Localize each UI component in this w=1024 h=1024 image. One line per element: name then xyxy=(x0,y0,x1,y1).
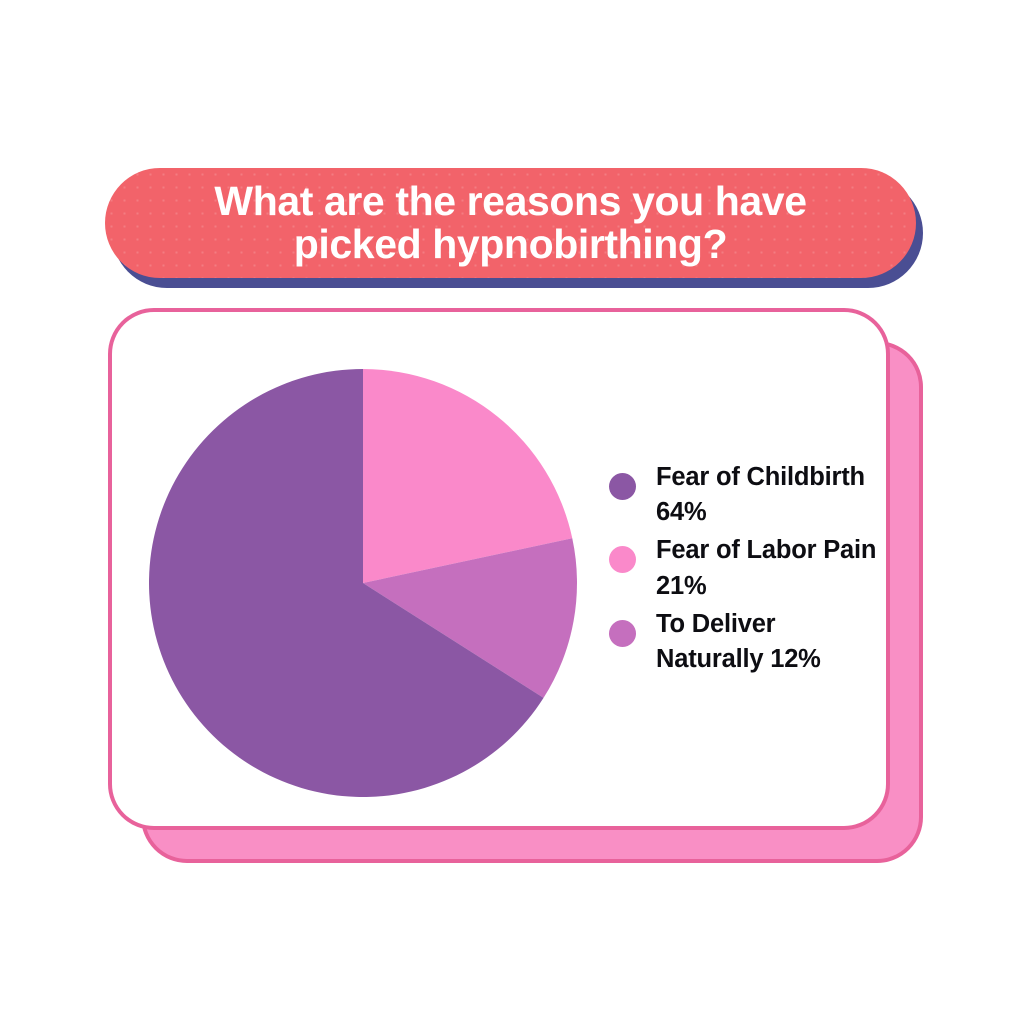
legend-label-fear-of-childbirth: Fear of Childbirth 64% xyxy=(656,460,879,530)
legend-item-to-deliver-naturally[interactable]: To Deliver Naturally 12% xyxy=(609,607,879,677)
legend-label-fear-of-labor-pain: Fear of Labor Pain 21% xyxy=(656,533,879,603)
title-banner: What are the reasons you have picked hyp… xyxy=(105,168,923,288)
chart-legend: Fear of Childbirth 64% Fear of Labor Pai… xyxy=(609,460,879,680)
legend-item-fear-of-labor-pain[interactable]: Fear of Labor Pain 21% xyxy=(609,533,879,603)
page-title: What are the reasons you have picked hyp… xyxy=(190,180,830,267)
legend-swatch-cell-1 xyxy=(609,533,656,573)
legend-swatch-cell-2 xyxy=(609,607,656,647)
legend-color-dot-icon xyxy=(609,546,636,573)
chart-card-face: Fear of Childbirth 64% Fear of Labor Pai… xyxy=(108,308,890,830)
pie-slice-group xyxy=(149,369,577,797)
legend-color-dot-icon xyxy=(609,620,636,647)
chart-card: Fear of Childbirth 64% Fear of Labor Pai… xyxy=(108,308,928,868)
legend-color-dot-icon xyxy=(609,473,636,500)
title-banner-face: What are the reasons you have picked hyp… xyxy=(105,168,916,278)
legend-label-to-deliver-naturally: To Deliver Naturally 12% xyxy=(656,607,879,677)
legend-swatch-cell-0 xyxy=(609,460,656,500)
pie-chart xyxy=(149,369,577,797)
pie-chart-svg xyxy=(149,369,577,797)
legend-item-fear-of-childbirth[interactable]: Fear of Childbirth 64% xyxy=(609,460,879,530)
infographic-canvas: What are the reasons you have picked hyp… xyxy=(0,0,1024,1024)
